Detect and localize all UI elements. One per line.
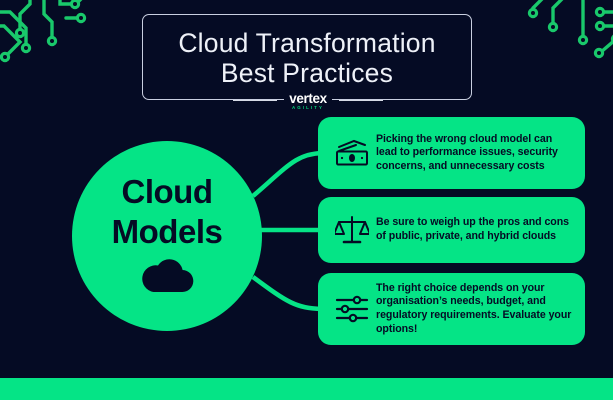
brand-text: vertex AGILITY <box>284 92 331 111</box>
balance-scales-icon <box>328 215 376 245</box>
infographic-poster: Cloud Transformation Best Practices vert… <box>0 0 613 400</box>
info-card-2[interactable]: Be sure to weigh up the pros and cons of… <box>318 197 585 263</box>
brand-name: vertex <box>289 92 326 106</box>
info-card-2-text: Be sure to weigh up the pros and cons of… <box>376 216 573 243</box>
info-card-3-text: The right choice depends on your organis… <box>376 282 573 336</box>
hub-circle-cloud-models: Cloud Models <box>72 141 262 331</box>
footer-bar <box>0 378 613 400</box>
hub-label-line-1: Cloud <box>122 172 213 212</box>
cloud-icon <box>140 259 194 293</box>
sliders-settings-icon <box>328 295 376 323</box>
money-cash-icon <box>328 139 376 167</box>
info-card-3[interactable]: The right choice depends on your organis… <box>318 273 585 345</box>
brand-tagline: AGILITY <box>289 106 326 110</box>
info-card-1-text: Picking the wrong cloud model can lead t… <box>376 133 573 174</box>
info-card-1[interactable]: Picking the wrong cloud model can lead t… <box>318 117 585 189</box>
hub-label-line-2: Models <box>112 212 223 252</box>
